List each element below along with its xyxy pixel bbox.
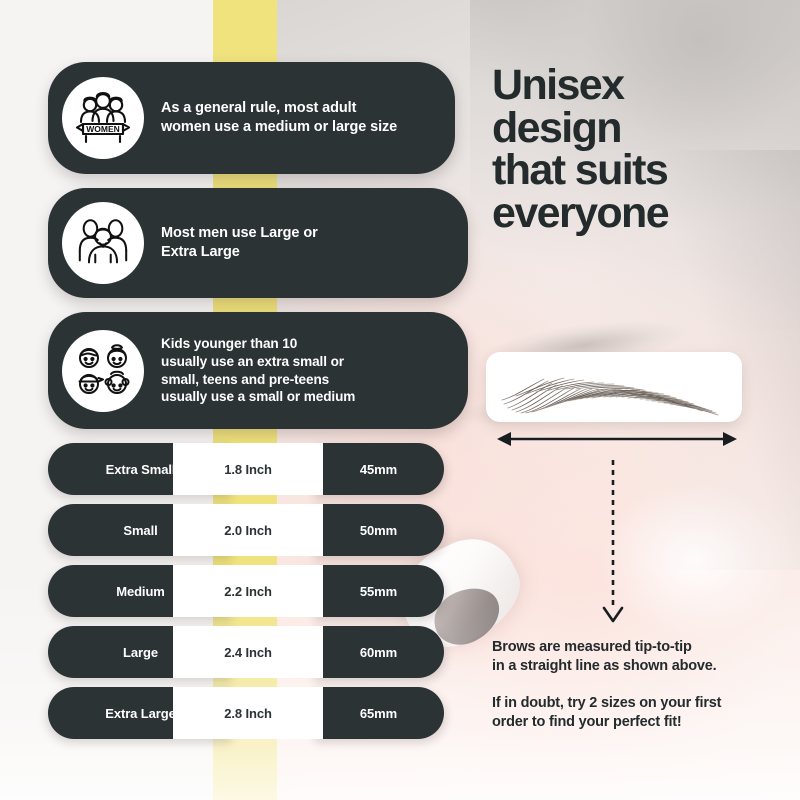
table-row: Medium 2.2 Inch 55mm <box>48 565 444 617</box>
size-inches-cell: 2.8 Inch <box>173 687 323 739</box>
women-group-icon: WOMEN <box>62 77 144 159</box>
table-row: Extra Large 2.8 Inch 65mm <box>48 687 444 739</box>
table-row: Extra Small 1.8 Inch 45mm <box>48 443 444 495</box>
info-card-list: WOMEN As a general rule, most adult wome… <box>48 62 468 443</box>
size-name: Small <box>123 523 157 538</box>
size-mm: 60mm <box>360 645 397 660</box>
size-mm-cell: 45mm <box>313 443 444 495</box>
headline-line: that suits <box>492 149 792 192</box>
info-text-line: usually use an extra small or <box>161 353 355 371</box>
info-card-women-text: As a general rule, most adult women use … <box>161 99 397 137</box>
size-mm-cell: 55mm <box>313 565 444 617</box>
size-mm: 45mm <box>360 462 397 477</box>
eyebrow-image <box>486 352 742 422</box>
note-measure: Brows are measured tip-to-tip in a strai… <box>492 638 792 677</box>
info-text-line: As a general rule, most adult <box>161 99 397 118</box>
kids-group-icon <box>62 330 144 412</box>
size-inches-cell: 1.8 Inch <box>173 443 323 495</box>
table-row: Large 2.4 Inch 60mm <box>48 626 444 678</box>
measurement-notes: Brows are measured tip-to-tip in a strai… <box>492 638 792 732</box>
note-advice: If in doubt, try 2 sizes on your first o… <box>492 694 792 733</box>
note-line: Brows are measured tip-to-tip <box>492 639 692 655</box>
eyebrow-sample-card <box>486 352 742 422</box>
size-name: Extra Small <box>106 462 176 477</box>
size-inches-cell: 2.0 Inch <box>173 504 323 556</box>
size-mm: 65mm <box>360 706 397 721</box>
info-card-women: WOMEN As a general rule, most adult wome… <box>48 62 455 174</box>
headline-line: design <box>492 107 792 150</box>
size-inches: 1.8 Inch <box>224 462 272 477</box>
dashed-down-arrow-icon <box>600 460 626 625</box>
info-text-line: usually use a small or medium <box>161 388 355 406</box>
size-name: Extra Large <box>105 706 175 721</box>
info-card-men-text: Most men use Large or Extra Large <box>161 224 318 262</box>
info-card-kids: Kids younger than 10 usually use an extr… <box>48 312 468 429</box>
size-name: Medium <box>116 584 165 599</box>
info-text-line: Most men use Large or <box>161 224 318 243</box>
size-table: Extra Small 1.8 Inch 45mm Small 2.0 Inch… <box>48 443 444 748</box>
info-card-kids-text: Kids younger than 10 usually use an extr… <box>161 335 355 406</box>
size-inches: 2.4 Inch <box>224 645 272 660</box>
headline-line: everyone <box>492 192 792 235</box>
table-row: Small 2.0 Inch 50mm <box>48 504 444 556</box>
info-card-men: Most men use Large or Extra Large <box>48 188 468 298</box>
headline-line: Unisex <box>492 64 792 107</box>
info-text-line: Extra Large <box>161 243 318 262</box>
size-mm-cell: 65mm <box>313 687 444 739</box>
size-mm: 50mm <box>360 523 397 538</box>
infographic-canvas: WOMEN As a general rule, most adult wome… <box>0 0 800 800</box>
info-text-line: women use a medium or large size <box>161 118 397 137</box>
size-name: Large <box>123 645 158 660</box>
info-text-line: Kids younger than 10 <box>161 335 355 353</box>
double-headed-arrow-icon <box>497 430 737 448</box>
men-group-icon <box>62 202 144 284</box>
size-inches: 2.2 Inch <box>224 584 272 599</box>
size-inches-cell: 2.4 Inch <box>173 626 323 678</box>
note-line: in a straight line as shown above. <box>492 658 716 674</box>
info-text-line: small, teens and pre-teens <box>161 371 355 389</box>
size-inches: 2.8 Inch <box>224 706 272 721</box>
size-inches: 2.0 Inch <box>224 523 272 538</box>
size-mm-cell: 60mm <box>313 626 444 678</box>
size-mm-cell: 50mm <box>313 504 444 556</box>
page-title: Unisex design that suits everyone <box>492 64 792 234</box>
size-mm: 55mm <box>360 584 397 599</box>
note-line: If in doubt, try 2 sizes on your first <box>492 695 721 711</box>
note-line: order to find your perfect fit! <box>492 714 682 730</box>
svg-text:WOMEN: WOMEN <box>86 124 120 134</box>
size-inches-cell: 2.2 Inch <box>173 565 323 617</box>
